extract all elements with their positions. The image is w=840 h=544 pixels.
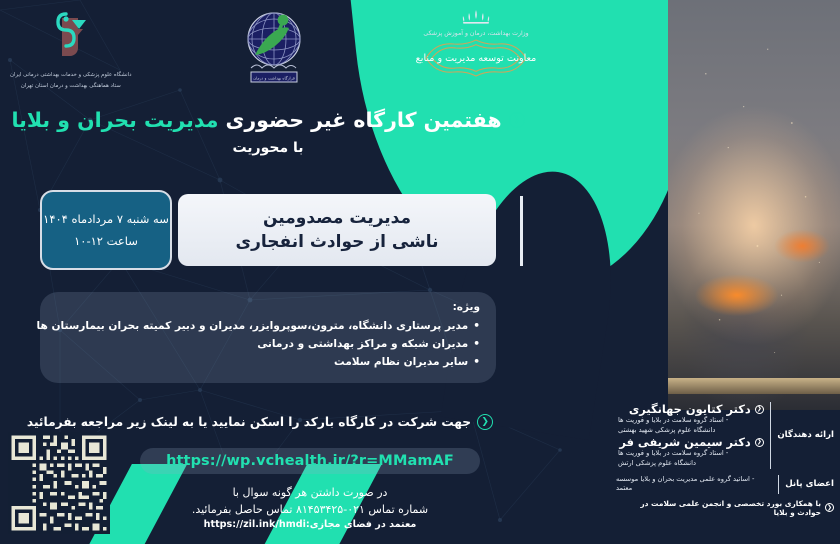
- presenter-affiliation-line2: دانشگاه علوم پزشکی شهید بهشتی: [616, 426, 764, 436]
- iums-logo-icon: [42, 6, 100, 64]
- contact-line-1: در صورت داشتن هر گونه سوال با: [100, 484, 520, 501]
- panel-members-text: - اساتید گروه علمی مدیریت بحران و بلایا …: [616, 475, 772, 494]
- presenter-name: دکتر کتایون جهانگیری: [629, 402, 751, 416]
- presenters-side-label: ارائه دهندگان: [777, 430, 834, 440]
- audience-box: ویژه: مدیر پرستاری دانشگاه، مترون،سوپروا…: [40, 292, 496, 383]
- page-title: هفتمین کارگاه غیر حضوری مدیریت بحران و ب…: [11, 108, 501, 132]
- globe-emblem-icon: قرارگاه بهداشت و درمان: [239, 6, 309, 90]
- presenters-panel: ارائه دهندگان ❮ دکتر کتایون جهانگیری - ا…: [616, 402, 834, 517]
- logo-bar: دانشگاه علوم پزشکی و خدمات بهداشتی درمان…: [0, 4, 560, 108]
- contact-line-3[interactable]: معتمد در فضای مجازی:https://zil.ink/hmdi: [100, 518, 520, 533]
- presenter-affiliation-line1: - استاد گروه سلامت در بلایا و فوریت ها: [616, 416, 764, 426]
- collaboration-footnote: با همکاری بورد تخصصی و انجمن علمی سلامت …: [616, 499, 821, 517]
- topic-box: مدیریت مصدومین ناشی از حوادث انفجاری: [178, 194, 496, 266]
- qr-code-icon[interactable]: [8, 432, 110, 534]
- ministry-emblem-icon: وزارت بهداشت، درمان و آموزش پزشکی معاونت…: [416, 6, 536, 82]
- topic-line-2: ناشی از حوادث انفجاری: [235, 232, 438, 252]
- presenter-item: ❮ دکتر سیمین شریفی فر - استاد گروه سلامت…: [616, 435, 764, 468]
- presenter-affiliation-line1: - استاد گروه سلامت در بلایا و فوریت ها: [616, 449, 764, 459]
- logo-ministry-of-health: وزارت بهداشت، درمان و آموزش پزشکی معاونت…: [416, 6, 536, 86]
- registration-link-pill[interactable]: https://wp.vchealth.ir/?r=MMamAF: [140, 448, 480, 474]
- poster-title-row: ❮ هفتمین کارگاه غیر حضوری مدیریت بحران و…: [0, 108, 536, 132]
- registration-instruction-row: ❮ جهت شرکت در کارگاه بارکد را اسکن نمایی…: [0, 414, 520, 430]
- contact-line-2: شماره تماس ۰۲۱-۸۱۴۵۳۴۲۵ تماس حاصل بفرمائ…: [100, 501, 520, 518]
- qr-code-graphic[interactable]: [8, 432, 110, 534]
- topic-accent-bar: [520, 196, 523, 266]
- presenters-list: ❮ دکتر کتایون جهانگیری - استاد گروه سلام…: [616, 402, 764, 469]
- workshop-time: ساعت ۱۲-۱۰: [74, 234, 138, 249]
- logo-iran-university-medical-sciences: دانشگاه علوم پزشکی و خدمات بهداشتی درمان…: [10, 6, 132, 91]
- list-item: سایر مدیران نظام سلامت: [56, 353, 480, 371]
- presenters-divider: [770, 402, 772, 469]
- logo-crisis-management-emblem: قرارگاه بهداشت و درمان: [239, 6, 309, 94]
- list-item: مدیران شبکه و مراکز بهداشتی و درمانی: [56, 335, 480, 353]
- audience-label: ویژه:: [56, 301, 480, 313]
- logo-caption-iums-line1: دانشگاه علوم پزشکی و خدمات بهداشتی درمان…: [10, 71, 132, 79]
- poster-root: دانشگاه علوم پزشکی و خدمات بهداشتی درمان…: [0, 0, 840, 544]
- poster-subtitle: با محوریت: [0, 140, 536, 156]
- list-item: مدیر پرستاری دانشگاه، مترون،سوپروایزر، م…: [56, 317, 480, 335]
- explosion-ground-strip: [668, 378, 840, 394]
- audience-list: مدیر پرستاری دانشگاه، مترون،سوپروایزر، م…: [56, 317, 480, 372]
- contact-block: در صورت داشتن هر گونه سوال با شماره تماس…: [100, 484, 520, 533]
- registration-instruction: جهت شرکت در کارگاه بارکد را اسکن نمایید …: [27, 415, 471, 429]
- logo-caption-iums-line2: ستاد هماهنگی بهداشت و درمان استان تهران: [10, 82, 132, 90]
- presenter-name-row: ❮ دکتر کتایون جهانگیری: [616, 402, 764, 416]
- registration-url[interactable]: https://wp.vchealth.ir/?r=MMamAF: [166, 453, 454, 469]
- panel-members-row: اعضای پانل - اساتید گروه علمی مدیریت بحر…: [616, 475, 834, 494]
- explosion-photo: [668, 0, 840, 410]
- title-prefix: هفتمین کارگاه غیر حضوری: [226, 108, 502, 132]
- presenter-name: دکتر سیمین شریفی فر: [619, 435, 750, 449]
- panel-side-label: اعضای پانل: [785, 479, 834, 489]
- chevron-left-icon: ❮: [755, 438, 764, 447]
- svg-text:معاونت توسعه مدیریت و منابع: معاونت توسعه مدیریت و منابع: [416, 53, 536, 64]
- panel-divider: [778, 475, 780, 494]
- chevron-left-icon: ❮: [755, 405, 764, 414]
- presenter-name-row: ❮ دکتر سیمین شریفی فر: [616, 435, 764, 449]
- date-time-chip: سه شنبه ۷ مردادماه ۱۴۰۴ ساعت ۱۲-۱۰: [40, 190, 172, 270]
- chevron-left-icon: ❮: [509, 112, 525, 128]
- svg-text:وزارت بهداشت، درمان و آموزش پز: وزارت بهداشت، درمان و آموزش پزشکی: [423, 28, 528, 37]
- presenter-item: ❮ دکتر کتایون جهانگیری - استاد گروه سلام…: [616, 402, 764, 435]
- chevron-left-icon: ❮: [477, 414, 493, 430]
- presenter-affiliation-line2: دانشگاه علوم پزشکی ارتش: [616, 459, 764, 469]
- collaboration-footnote-row: ❮ با همکاری بورد تخصصی و انجمن علمی سلام…: [616, 499, 834, 517]
- presenters-row: ارائه دهندگان ❮ دکتر کتایون جهانگیری - ا…: [616, 402, 834, 469]
- svg-text:قرارگاه بهداشت و درمان: قرارگاه بهداشت و درمان: [253, 76, 295, 81]
- chevron-left-icon: ❮: [825, 503, 834, 512]
- topic-line-1: مدیریت مصدومین: [263, 208, 411, 228]
- title-accent: مدیریت بحران و بلایا: [11, 108, 218, 132]
- workshop-date: سه شنبه ۷ مردادماه ۱۴۰۴: [43, 212, 169, 227]
